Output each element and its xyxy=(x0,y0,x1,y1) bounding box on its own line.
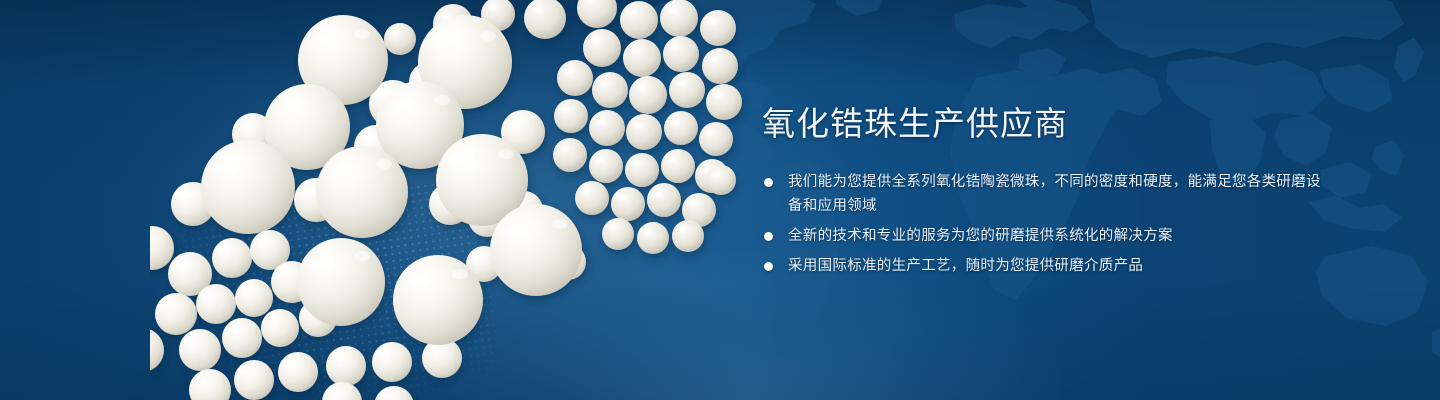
banner-content: 氧化锆珠生产供应商 我们能为您提供全系列氧化锆陶瓷微珠，不同的密度和硬度，能满足… xyxy=(762,104,1322,278)
list-item: 我们能为您提供全系列氧化锆陶瓷微珠，不同的密度和硬度，能满足您各类研磨设备和应用… xyxy=(762,170,1322,218)
hero-banner: 氧化锆珠生产供应商 我们能为您提供全系列氧化锆陶瓷微珠，不同的密度和硬度，能满足… xyxy=(0,0,1440,400)
list-item-label: 全新的技术和专业的服务为您的研磨提供系统化的解决方案 xyxy=(788,224,1322,248)
list-item-label: 采用国际标准的生产工艺，随时为您提供研磨介质产品 xyxy=(788,254,1322,278)
feature-list: 我们能为您提供全系列氧化锆陶瓷微珠，不同的密度和硬度，能满足您各类研磨设备和应用… xyxy=(762,170,1322,278)
list-item: 全新的技术和专业的服务为您的研磨提供系统化的解决方案 xyxy=(762,224,1322,248)
bullet-dot-icon xyxy=(764,178,773,187)
bullet-dot-icon xyxy=(764,262,773,271)
list-item: 采用国际标准的生产工艺，随时为您提供研磨介质产品 xyxy=(762,254,1322,278)
bullet-dot-icon xyxy=(764,232,773,241)
list-item-label: 我们能为您提供全系列氧化锆陶瓷微珠，不同的密度和硬度，能满足您各类研磨设备和应用… xyxy=(788,170,1322,218)
page-title: 氧化锆珠生产供应商 xyxy=(762,104,1322,144)
